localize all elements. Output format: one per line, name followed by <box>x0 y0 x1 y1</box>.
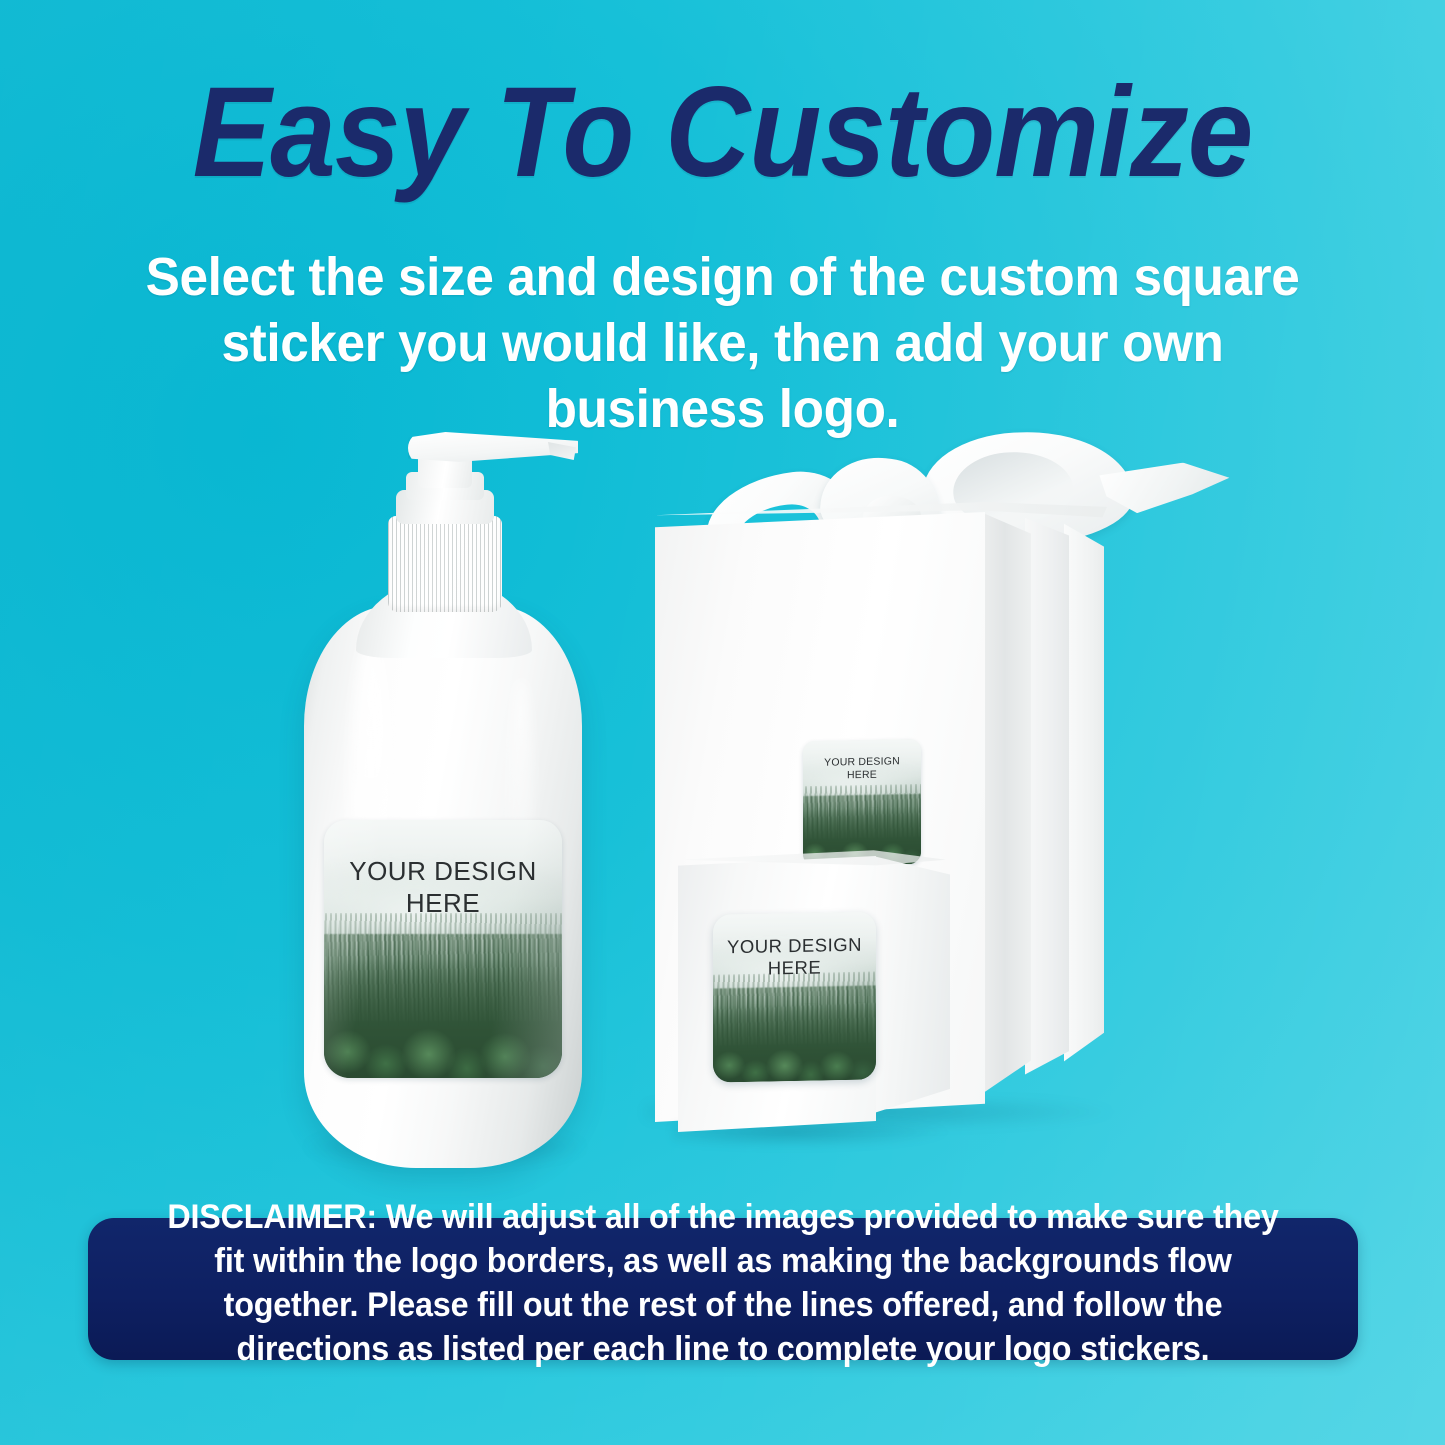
small-box-side-panel <box>874 853 950 1121</box>
pump-collar-ribbed <box>388 516 502 612</box>
gift-box-side-far <box>1064 518 1104 1090</box>
forest-near-trees <box>713 1002 876 1082</box>
sticker-on-bottle: YOUR DESIGN HERE <box>324 820 562 1078</box>
disclaimer-banner: DISCLAIMER: We will adjust all of the im… <box>88 1218 1358 1360</box>
sticker-line-1: YOUR DESIGN <box>349 856 537 886</box>
small-box-mockup: YOUR DESIGN HERE <box>678 848 950 1148</box>
promo-banner: Easy To Customize Select the size and de… <box>0 0 1445 1445</box>
sticker-line-2: HERE <box>406 888 480 918</box>
disclaimer-text: DISCLAIMER: We will adjust all of the im… <box>160 1195 1287 1372</box>
sticker-line-1: YOUR DESIGN <box>824 756 900 769</box>
disclaimer-label: DISCLAIMER: <box>167 1198 377 1236</box>
product-mockup-stage: YOUR DESIGN HERE YO <box>0 380 1445 1210</box>
pump-bottle-mockup: YOUR DESIGN HERE <box>296 428 596 1168</box>
gift-box-side-mid <box>1025 512 1069 1098</box>
sticker-line-2: HERE <box>847 769 877 782</box>
sticker-placeholder-text: YOUR DESIGN HERE <box>713 933 876 981</box>
sticker-on-small-box: YOUR DESIGN HERE <box>713 911 876 1082</box>
gift-box-side-near <box>983 510 1031 1102</box>
sticker-placeholder-text: YOUR DESIGN HERE <box>324 856 562 919</box>
sticker-line-2: HERE <box>768 957 821 979</box>
sticker-line-1: YOUR DESIGN <box>727 934 862 958</box>
sticker-placeholder-text: YOUR DESIGN HERE <box>803 755 921 783</box>
page-title: Easy To Customize <box>58 66 1387 200</box>
forest-near-trees <box>324 959 562 1078</box>
